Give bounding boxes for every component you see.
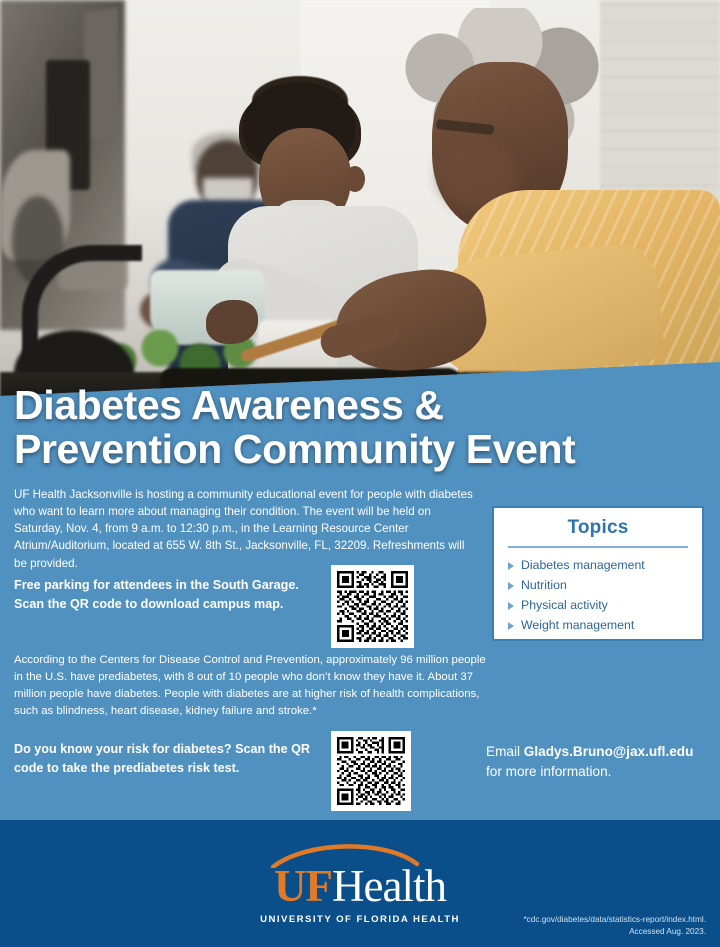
list-item: Physical activity bbox=[508, 596, 702, 616]
parking-info: Free parking for attendees in the South … bbox=[14, 576, 314, 614]
page-title-line-1: Diabetes Awareness & bbox=[14, 383, 694, 427]
hero-photo-scene bbox=[0, 0, 720, 400]
hero-photo bbox=[0, 0, 720, 400]
qr-code-graphic bbox=[337, 571, 408, 642]
topics-divider bbox=[508, 546, 688, 548]
uf-health-logo: UFHealth UNIVERSITY OF FLORIDA HEALTH bbox=[0, 842, 720, 925]
boy-ear bbox=[345, 166, 365, 192]
logo-health-text: Health bbox=[332, 861, 446, 911]
topics-box: Topics Diabetes management Nutrition Phy… bbox=[492, 506, 704, 641]
page-title: Diabetes Awareness & Prevention Communit… bbox=[14, 383, 694, 472]
risk-test-info: Do you know your risk for diabetes? Scan… bbox=[14, 740, 314, 778]
arc-swoosh-icon bbox=[267, 842, 453, 868]
triangle-bullet-icon bbox=[508, 602, 514, 610]
logo-arc-icon bbox=[267, 842, 453, 868]
topic-label: Physical activity bbox=[521, 596, 608, 616]
triangle-bullet-icon bbox=[508, 622, 514, 630]
topics-list: Diabetes management Nutrition Physical a… bbox=[508, 556, 702, 636]
topic-label: Nutrition bbox=[521, 576, 567, 596]
triangle-bullet-icon bbox=[508, 582, 514, 590]
topic-label: Diabetes management bbox=[521, 556, 645, 576]
prediabetes-risk-test-qr-code[interactable] bbox=[331, 731, 411, 811]
qr-code-graphic bbox=[337, 737, 405, 805]
cdc-statistics: According to the Centers for Disease Con… bbox=[14, 652, 494, 720]
footnote-line-1: *cdc.gov/diabetes/data/statistics-report… bbox=[524, 914, 707, 926]
boy-hand bbox=[206, 300, 258, 344]
campus-map-qr-code[interactable] bbox=[331, 565, 414, 648]
footnote-line-2: Accessed Aug. 2023. bbox=[524, 926, 707, 938]
logo-uf-text: UF bbox=[274, 861, 332, 911]
logo-wordmark: UFHealth bbox=[0, 864, 720, 909]
event-description: UF Health Jacksonville is hosting a comm… bbox=[14, 486, 474, 572]
footer: UFHealth UNIVERSITY OF FLORIDA HEALTH *c… bbox=[0, 820, 720, 947]
email-prefix: Email bbox=[486, 744, 524, 759]
topics-heading: Topics bbox=[494, 517, 702, 539]
list-item: Weight management bbox=[508, 616, 702, 636]
contact-info: Email Gladys.Bruno@jax.ufl.edu for more … bbox=[486, 742, 716, 783]
email-address[interactable]: Gladys.Bruno@jax.ufl.edu bbox=[524, 744, 694, 759]
topic-label: Weight management bbox=[521, 616, 634, 636]
list-item: Diabetes management bbox=[508, 556, 702, 576]
list-item: Nutrition bbox=[508, 576, 702, 596]
page-title-line-2: Prevention Community Event bbox=[14, 427, 694, 471]
source-footnote: *cdc.gov/diabetes/data/statistics-report… bbox=[524, 914, 707, 938]
triangle-bullet-icon bbox=[508, 562, 514, 570]
email-suffix: for more information. bbox=[486, 764, 611, 779]
